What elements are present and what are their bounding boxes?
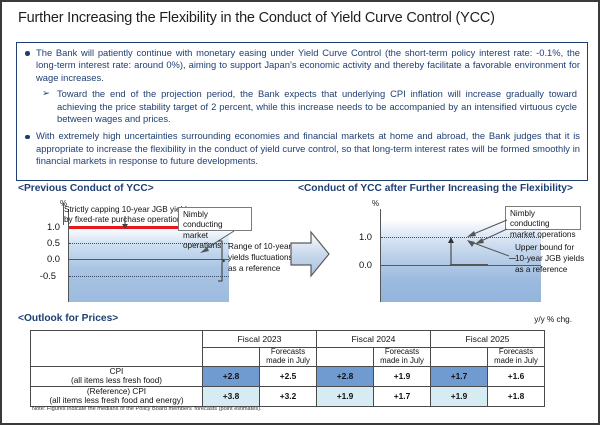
table-header-row-years: Fiscal 2023 Fiscal 2024 Fiscal 2025 (31, 331, 545, 348)
table-subheader-spacer-3 (431, 348, 488, 367)
chart-right-up-arrow-icon (446, 237, 456, 265)
cell-refcpi-2025-july: +1.8 (488, 386, 545, 406)
bullet-dot-icon (25, 135, 30, 140)
chart-left-range-line2: yields fluctuations (228, 253, 293, 264)
cell-cpi-2023-current: +2.8 (203, 366, 260, 386)
table-footnote: Note: Figures indicate the medians of th… (32, 406, 262, 412)
table-subheader-spacer-2 (317, 348, 374, 367)
bullet-text-2: Toward the end of the projection period,… (57, 88, 577, 124)
bullet-text-1: The Bank will patiently continue with mo… (36, 47, 580, 83)
cell-refcpi-2023-current: +3.8 (203, 386, 260, 406)
chart-left-zero-line (69, 259, 229, 260)
subheader-line2: made in July (266, 356, 310, 365)
chart-left-down-arrow-icon (120, 216, 130, 229)
table-header-fiscal-2023: Fiscal 2023 (203, 331, 317, 348)
chart-left-nimbly-callout: Nimbly conducting market operations (178, 207, 252, 231)
table-subheader-spacer-1 (203, 348, 260, 367)
chart-right-arrow-leader (450, 264, 488, 265)
row-label-line1: (Reference) CPI (87, 387, 146, 396)
bullet-dot-icon (25, 51, 30, 56)
section-heading-new-ycc: <Conduct of YCC after Further Increasing… (298, 183, 573, 194)
row-label-reference-cpi: (Reference) CPI (all items less fresh fo… (31, 386, 203, 406)
chart-left-nimbly-line1: Nimbly conducting (183, 210, 223, 229)
chart-right-upper-line3: as a reference (515, 265, 567, 276)
chart-left-ytick-4: -0.5 (30, 270, 56, 281)
arrow-bullet-icon: ➢ (42, 88, 50, 100)
page-title: Further Increasing the Flexibility in th… (18, 10, 495, 26)
subheader-line2: made in July (380, 356, 424, 365)
chart-right-upper-connector-icon (457, 238, 511, 258)
table-header-fiscal-2024: Fiscal 2024 (317, 331, 431, 348)
chart-right-ytick-2: 0.0 (346, 259, 372, 270)
summary-box: The Bank will patiently continue with mo… (16, 42, 588, 181)
row-label-cpi: CPI (all items less fresh food) (31, 366, 203, 386)
chart-right-upper-leader (509, 258, 516, 259)
chart-left-lower-ref-line (69, 276, 229, 277)
transition-arrow-icon (289, 229, 331, 281)
cell-cpi-2025-july: +1.6 (488, 366, 545, 386)
chart-left-ytick-2: 0.5 (34, 237, 60, 248)
outlook-unit-note: y/y % chg. (534, 315, 572, 324)
table-row: CPI (all items less fresh food) +2.8 +2.… (31, 366, 545, 386)
chart-right-ytick-1: 1.0 (346, 231, 372, 242)
cell-cpi-2023-july: +2.5 (260, 366, 317, 386)
row-label-line1: CPI (110, 367, 124, 376)
cell-refcpi-2023-july: +3.2 (260, 386, 317, 406)
subheader-line1: Forecasts (499, 347, 533, 356)
bullet-item-1: The Bank will patiently continue with mo… (24, 47, 580, 84)
subheader-line2: made in July (494, 356, 538, 365)
outlook-table: Fiscal 2023 Fiscal 2024 Fiscal 2025 Fore… (30, 330, 545, 407)
chart-left-range-line3: as a reference (228, 264, 280, 275)
table-row: (Reference) CPI (all items less fresh fo… (31, 386, 545, 406)
chart-right-nimbly-callout: Nimbly conducting market operations (505, 206, 581, 230)
chart-right-nimbly-line2: market operations (510, 230, 576, 239)
chart-left-ytick-1: 1.0 (34, 221, 60, 232)
chart-left-range-bracket-icon (217, 240, 225, 282)
chart-right-upper-line2: 10-year JGB yields (515, 254, 584, 265)
chart-right-upper-line1: Upper bound for (515, 243, 574, 254)
table-corner-cell (31, 331, 203, 367)
row-label-line2: (all items less fresh food) (71, 376, 162, 385)
section-heading-outlook: <Outlook for Prices> (18, 313, 118, 324)
chart-left-ytick-3: 0.0 (34, 253, 60, 264)
table-subheader-july-2023: Forecasts made in July (260, 348, 317, 367)
chart-right-unit-label: % (372, 199, 379, 208)
slide-root: Further Increasing the Flexibility in th… (0, 0, 600, 425)
row-label-line2: (all items less fresh food and energy) (49, 396, 183, 405)
cell-cpi-2025-current: +1.7 (431, 366, 488, 386)
table-header-fiscal-2025: Fiscal 2025 (431, 331, 545, 348)
chart-right-nimbly-line1: Nimbly conducting (510, 209, 550, 228)
cell-cpi-2024-july: +1.9 (374, 366, 431, 386)
subheader-line1: Forecasts (385, 347, 419, 356)
bullet-item-2: ➢ Toward the end of the projection perio… (24, 88, 580, 125)
bullet-item-3: With extremely high uncertainties surrou… (24, 130, 580, 167)
table-subheader-july-2024: Forecasts made in July (374, 348, 431, 367)
table-subheader-july-2025: Forecasts made in July (488, 348, 545, 367)
outlook-table-wrap: Fiscal 2023 Fiscal 2024 Fiscal 2025 Fore… (30, 330, 545, 407)
cell-refcpi-2025-current: +1.9 (431, 386, 488, 406)
cell-refcpi-2024-current: +1.9 (317, 386, 374, 406)
subheader-line1: Forecasts (271, 347, 305, 356)
section-heading-previous-ycc: <Previous Conduct of YCC> (18, 183, 154, 194)
chart-left-capping-bracket (63, 203, 64, 225)
cell-cpi-2024-current: +2.8 (317, 366, 374, 386)
bullet-text-3: With extremely high uncertainties surrou… (36, 130, 580, 166)
cell-refcpi-2024-july: +1.7 (374, 386, 431, 406)
